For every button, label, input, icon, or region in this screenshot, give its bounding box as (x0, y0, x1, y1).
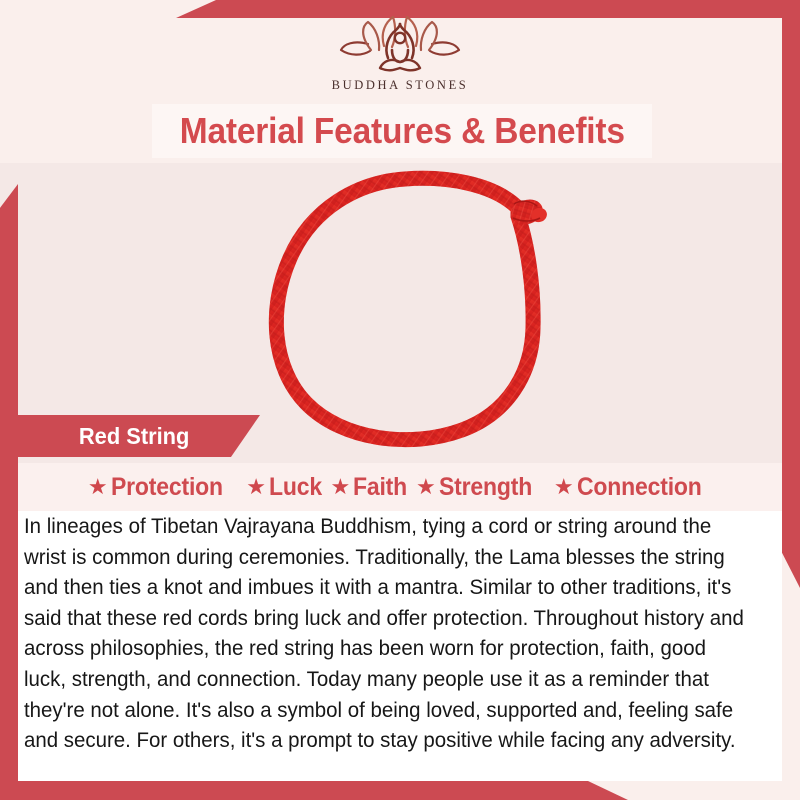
lotus-meditation-figure-icon (338, 14, 462, 76)
decorative-bottom-bar (0, 781, 800, 800)
product-label-banner: Red String (18, 415, 260, 457)
page-title-text: Material Features & Benefits (179, 110, 624, 152)
star-icon: ★ (331, 476, 351, 498)
star-icon: ★ (246, 476, 266, 498)
feature-label-connection: Connection (577, 473, 702, 502)
decorative-left-strip (0, 184, 18, 782)
description-paragraph: In lineages of Tibetan Vajrayana Buddhis… (24, 512, 750, 757)
feature-item-connection: ★ Connection (554, 473, 712, 502)
feature-item-strength: ★ Strength (416, 473, 540, 502)
poster-canvas: BUDDHA STONES Material Features & Benefi… (0, 0, 800, 800)
brand-name: BUDDHA STONES (332, 78, 469, 93)
feature-label-luck: Luck (269, 473, 322, 502)
feature-item-protection: ★ Protection (88, 473, 232, 502)
feature-label-strength: Strength (439, 473, 532, 502)
feature-label-protection: Protection (111, 473, 223, 502)
feature-item-faith: ★ Faith (331, 473, 412, 502)
star-icon: ★ (88, 476, 108, 498)
star-icon: ★ (416, 476, 436, 498)
red-string-bracelet-image (250, 168, 575, 453)
features-list: ★ Protection ★ Luck ★ Faith ★ Strength ★… (18, 463, 782, 511)
product-label-text: Red String (79, 423, 189, 450)
brand-header: BUDDHA STONES (0, 0, 800, 110)
page-title: Material Features & Benefits (152, 104, 652, 158)
feature-item-luck: ★ Luck (246, 473, 326, 502)
star-icon: ★ (554, 476, 574, 498)
feature-label-faith: Faith (353, 473, 407, 502)
